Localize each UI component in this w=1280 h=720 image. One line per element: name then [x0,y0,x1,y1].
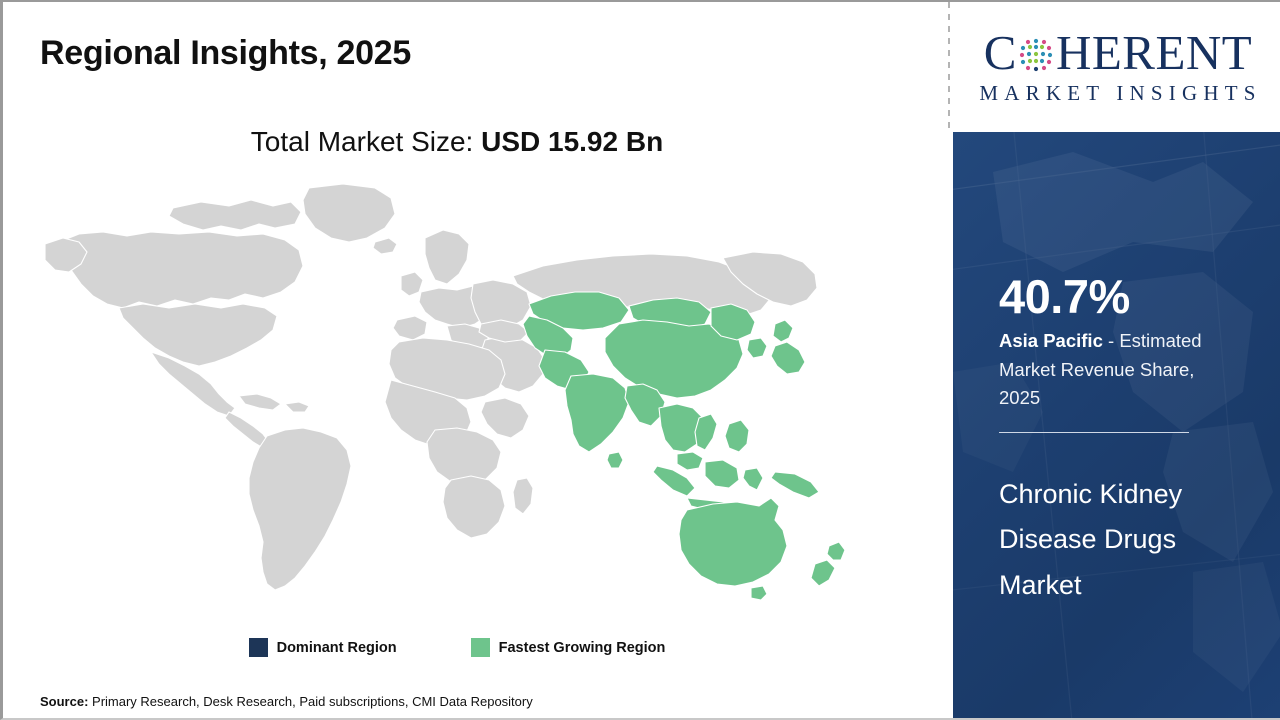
logo-wordmark: C [984,28,1252,77]
page-title: Regional Insights, 2025 [40,34,411,73]
legend-item-fastest-growing: Fastest Growing Region [471,638,666,657]
region-vietnam-highlight [695,414,717,450]
region-india-highlight [565,374,629,452]
region-canada [59,232,303,308]
logo-letters-herent: HERENT [1056,28,1252,77]
region-australia-highlight [679,498,787,586]
logo-letter-c: C [984,28,1017,77]
world-map [23,180,898,620]
stat-panel-content: 40.7% Asia Pacific - Estimated Market Re… [999,132,1249,720]
region-british-isles [401,272,423,296]
source-label: Source: [40,694,88,709]
stat-caption: Asia Pacific - Estimated Market Revenue … [999,327,1234,413]
market-size-label: Total Market Size: [251,126,481,157]
region-borneo-highlight [705,460,739,488]
legend-label-dominant: Dominant Region [277,640,397,656]
region-south-america [249,428,351,590]
square-swatch-icon [471,638,490,657]
stat-region-name: Asia Pacific [999,330,1103,351]
region-sri-lanka-highlight [607,452,623,468]
region-sumatra-highlight [653,466,695,496]
region-japan-main-highlight [771,342,805,374]
dotted-sphere-icon [1017,36,1055,74]
region-korea-highlight [747,338,767,358]
region-malaysia-highlight [677,452,703,470]
source-footer: Source: Primary Research, Desk Research,… [40,694,533,709]
square-swatch-icon [249,638,268,657]
panel-divider-rule [999,432,1189,433]
region-japan-highlight [773,320,793,342]
region-hispaniola [285,402,309,412]
stat-panel: 40.7% Asia Pacific - Estimated Market Re… [953,132,1280,720]
dotted-sphere-svg [1017,36,1055,74]
stat-value: 40.7% [999,273,1130,320]
legend-label-fastest-growing: Fastest Growing Region [499,640,666,656]
brand-logo: C [953,2,1280,132]
region-madagascar [513,478,533,514]
legend-item-dominant: Dominant Region [249,638,397,657]
region-united-states [119,304,277,366]
regional-insights-infographic: Regional Insights, 2025 Total Market Siz… [0,0,1280,720]
map-panel: Regional Insights, 2025 Total Market Siz… [3,2,948,720]
region-canada-arctic [169,200,301,230]
region-southern-africa [443,476,505,538]
region-east-africa [481,398,529,438]
source-text: Primary Research, Desk Research, Paid su… [88,694,532,709]
region-iceland [373,238,397,254]
total-market-size: Total Market Size: USD 15.92 Bn [3,126,911,158]
region-papua-new-guinea-highlight [771,472,819,498]
map-legend: Dominant Region Fastest Growing Region [3,638,911,657]
region-new-zealand-north-highlight [827,542,845,560]
region-tasmania-highlight [751,586,767,600]
market-size-value: USD 15.92 Bn [481,126,663,157]
world-map-svg [23,180,898,620]
market-name: Chronic Kidney Disease Drugs Market [999,472,1239,608]
region-iberia [393,316,427,340]
region-sulawesi-highlight [743,468,763,490]
logo-subtitle: MARKET INSIGHTS [974,81,1261,106]
region-philippines-highlight [725,420,749,452]
vertical-dashed-divider [948,2,950,133]
region-scandinavia [425,230,469,284]
region-new-zealand-south-highlight [811,560,835,586]
region-greenland [303,184,395,242]
region-caribbean [239,394,281,410]
